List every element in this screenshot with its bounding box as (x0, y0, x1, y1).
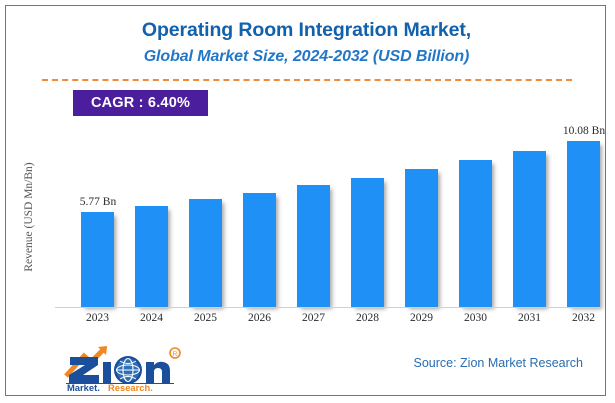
bar-rect-2030[interactable] (459, 160, 492, 307)
bar-rect-2026[interactable] (243, 193, 276, 307)
bar-rect-2032[interactable] (567, 141, 600, 307)
logo-icon: R Market. Research. (58, 345, 183, 393)
bar-2030[interactable] (459, 116, 492, 307)
x-tick-2032: 2032 (549, 312, 615, 324)
bar-2028[interactable] (351, 116, 384, 307)
bar-chart-plot: 5.77 Bn10.08 Bn (55, 116, 603, 307)
source-caption: Source: Zion Market Research (413, 356, 583, 370)
bar-value-label-2023: 5.77 Bn (53, 196, 143, 208)
bar-rect-2028[interactable] (351, 178, 384, 307)
bar-rect-2024[interactable] (135, 206, 168, 307)
bar-2027[interactable] (297, 116, 330, 307)
bar-rect-2031[interactable] (513, 151, 546, 307)
svg-text:R: R (173, 351, 178, 358)
y-axis-label: Revenue (USD Mn/Bn) (23, 132, 35, 302)
bar-2032[interactable]: 10.08 Bn (567, 116, 600, 307)
bar-2023[interactable]: 5.77 Bn (81, 116, 114, 307)
cagr-badge: CAGR : 6.40% (73, 90, 208, 116)
bar-rect-2025[interactable] (189, 199, 222, 307)
bar-2029[interactable] (405, 116, 438, 307)
bar-2024[interactable] (135, 116, 168, 307)
x-axis-line (55, 307, 603, 308)
bar-rect-2027[interactable] (297, 185, 330, 307)
bar-2025[interactable] (189, 116, 222, 307)
bar-value-label-2032: 10.08 Bn (539, 125, 615, 137)
bar-2031[interactable] (513, 116, 546, 307)
bar-2026[interactable] (243, 116, 276, 307)
header-divider (42, 79, 572, 81)
page-subtitle: Global Market Size, 2024-2032 (USD Billi… (6, 48, 607, 66)
bar-rect-2023[interactable] (81, 212, 114, 307)
bar-rect-2029[interactable] (405, 169, 438, 307)
chart-frame: Operating Room Integration Market, Globa… (5, 5, 606, 396)
page-title: Operating Room Integration Market, (6, 19, 607, 42)
zion-market-research-logo: R Market. Research. (58, 345, 183, 393)
